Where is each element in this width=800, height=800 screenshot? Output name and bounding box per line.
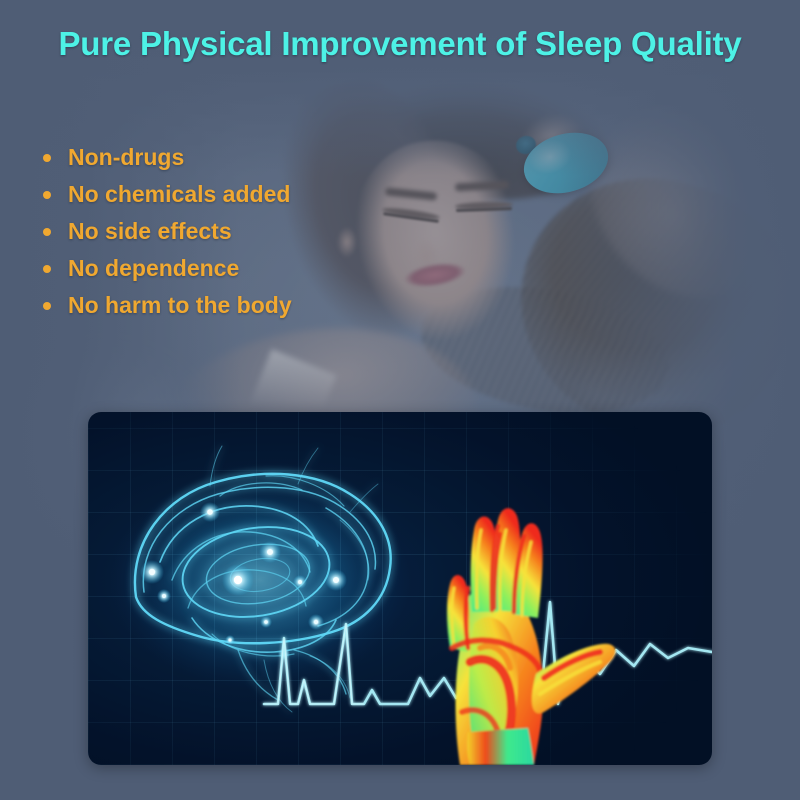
poster-canvas: Pure Physical Improvement of Sleep Quali…	[0, 0, 800, 800]
bullet-dot-icon	[43, 154, 51, 162]
benefit-label: No dependence	[68, 255, 239, 281]
list-item: Non-drugs	[38, 142, 292, 173]
bullet-dot-icon	[43, 265, 51, 273]
benefit-label: No side effects	[68, 218, 232, 244]
benefits-list: Non-drugs No chemicals added No side eff…	[38, 142, 292, 327]
page-title: Pure Physical Improvement of Sleep Quali…	[0, 24, 800, 64]
benefit-label: No harm to the body	[68, 292, 292, 318]
list-item: No harm to the body	[38, 290, 292, 321]
bullet-dot-icon	[43, 191, 51, 199]
tech-illustration-panel	[88, 412, 712, 765]
brain-graphic	[110, 446, 410, 712]
list-item: No dependence	[38, 253, 292, 284]
bullet-dot-icon	[43, 228, 51, 236]
panel-graphics	[88, 412, 712, 765]
thermal-hand-graphic	[447, 508, 616, 765]
benefit-label: Non-drugs	[68, 144, 184, 170]
list-item: No side effects	[38, 216, 292, 247]
bullet-dot-icon	[43, 302, 51, 310]
benefit-label: No chemicals added	[68, 181, 290, 207]
list-item: No chemicals added	[38, 179, 292, 210]
